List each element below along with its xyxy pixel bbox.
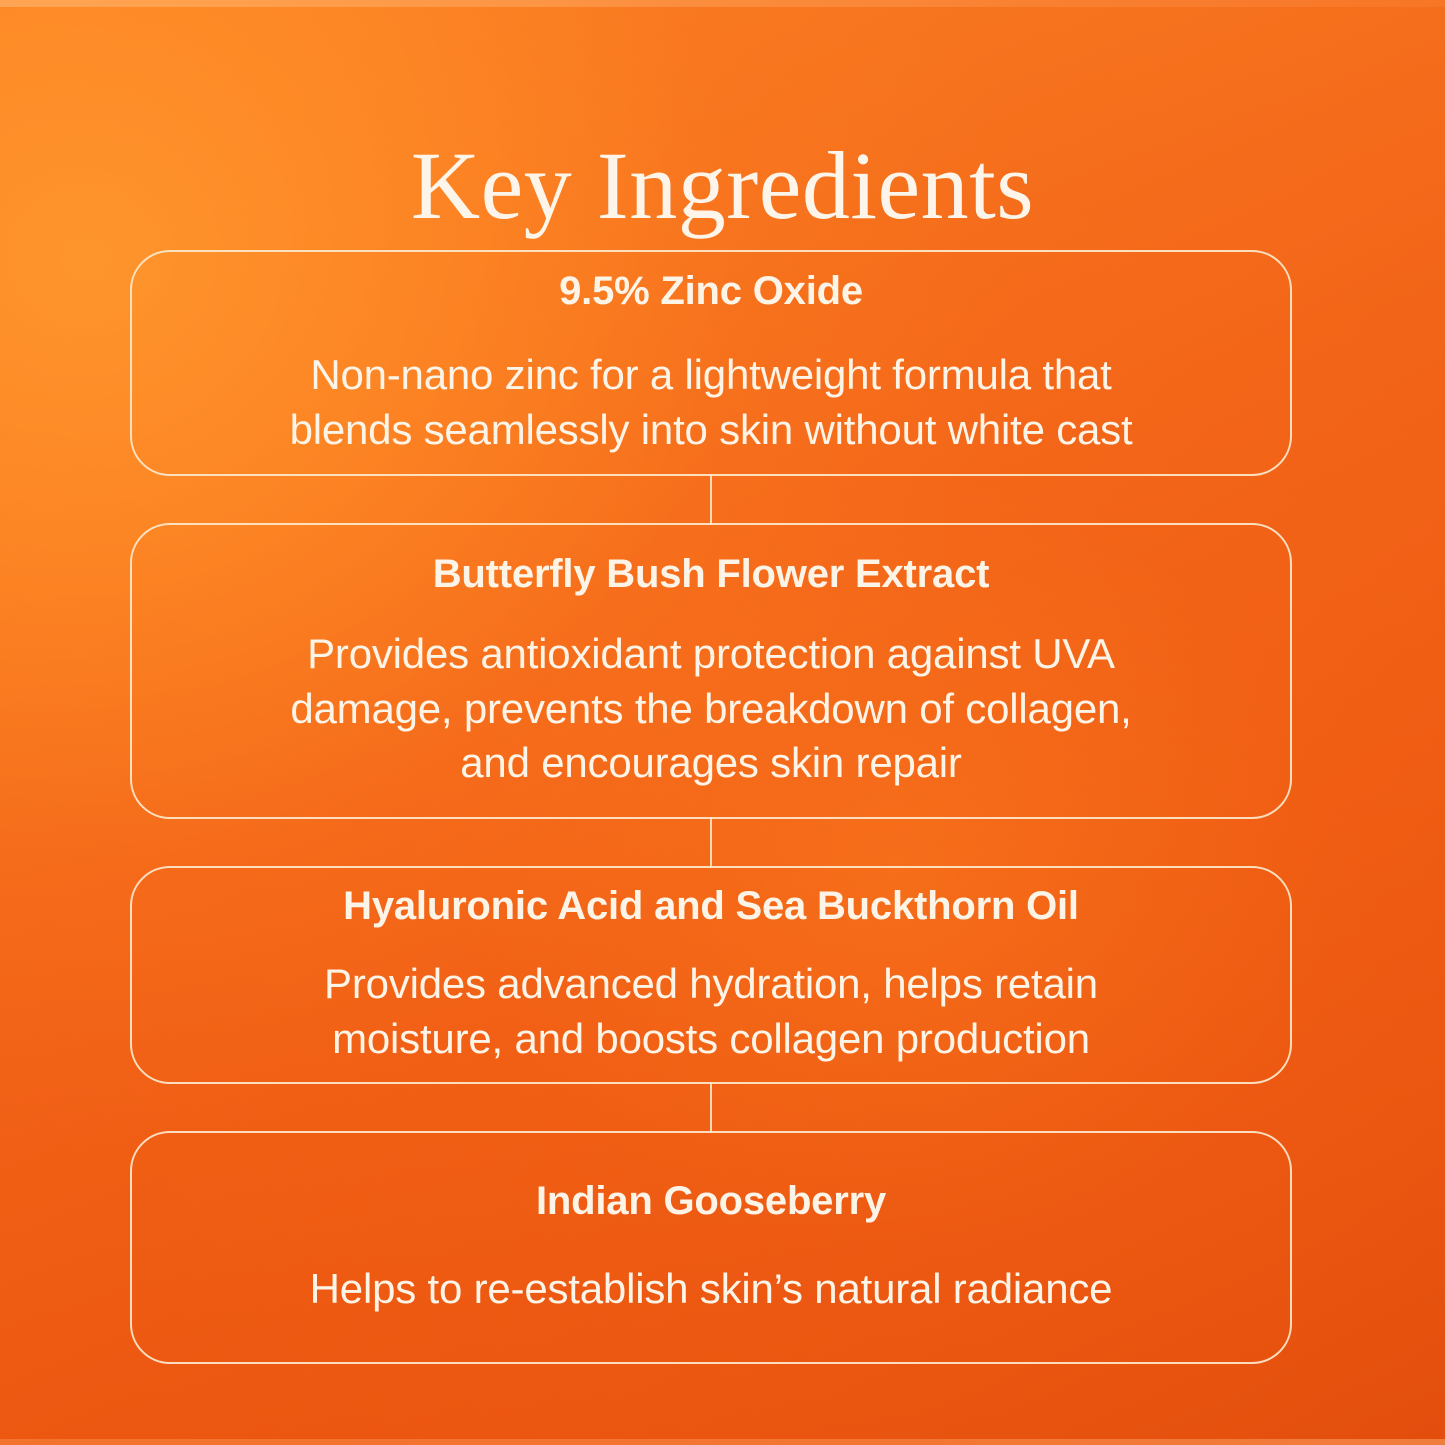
ingredient-title: Butterfly Bush Flower Extract <box>433 551 990 597</box>
ingredient-card-butterfly-bush-flower-extract: Butterfly Bush Flower Extract Provides a… <box>130 523 1292 819</box>
ingredient-card-indian-gooseberry: Indian Gooseberry Helps to re-establish … <box>130 1131 1292 1364</box>
ingredient-description: Provides antioxidant protection against … <box>290 627 1131 791</box>
card-connector-line <box>710 474 712 525</box>
card-connector-line <box>710 1082 712 1133</box>
ingredient-description: Helps to re-establish skin’s natural rad… <box>310 1262 1113 1317</box>
ingredient-title: Indian Gooseberry <box>536 1178 886 1224</box>
card-connector-line <box>710 817 712 868</box>
key-ingredients-poster: Key Ingredients 9.5% Zinc Oxide Non-nano… <box>0 0 1445 1445</box>
ingredient-description: Provides advanced hydration, helps retai… <box>324 957 1098 1066</box>
ingredient-description: Non-nano zinc for a lightweight formula … <box>290 348 1133 457</box>
ingredient-card-zinc-oxide: 9.5% Zinc Oxide Non-nano zinc for a ligh… <box>130 250 1292 476</box>
page-title: Key Ingredients <box>0 138 1445 234</box>
ingredient-title: 9.5% Zinc Oxide <box>559 268 863 314</box>
ingredient-card-hyaluronic-acid-sea-buckthorn-oil: Hyaluronic Acid and Sea Buckthorn Oil Pr… <box>130 866 1292 1084</box>
ingredient-title: Hyaluronic Acid and Sea Buckthorn Oil <box>343 883 1079 929</box>
ingredient-card-list: 9.5% Zinc Oxide Non-nano zinc for a ligh… <box>130 250 1292 1364</box>
